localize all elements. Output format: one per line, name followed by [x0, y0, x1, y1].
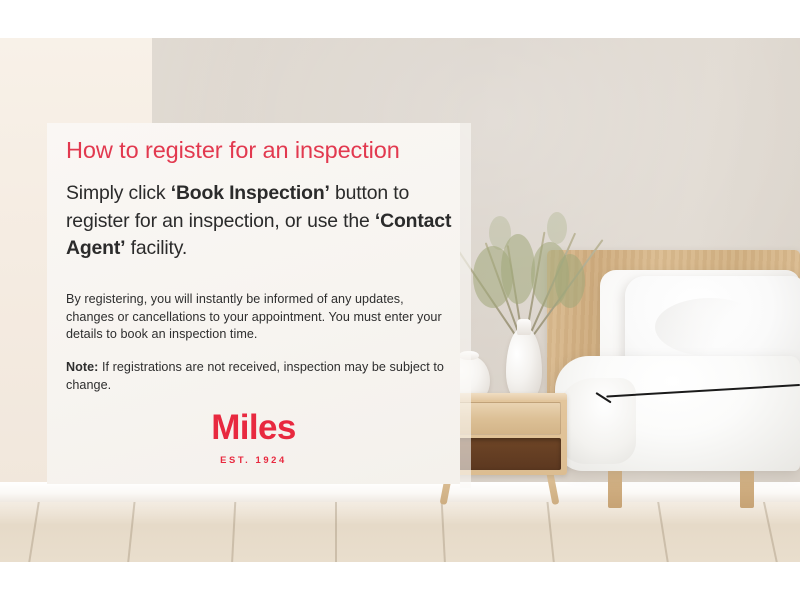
note-paragraph: Note: If registrations are not received,…: [66, 359, 448, 394]
brand-logo: Miles EST. 1924: [47, 410, 460, 465]
body-paragraph: By registering, you will instantly be in…: [66, 291, 448, 344]
baseboard: [0, 482, 800, 502]
branch-foliage: [555, 254, 585, 308]
note-text: If registrations are not received, inspe…: [66, 360, 444, 392]
branch-foliage: [489, 216, 511, 250]
branch-foliage: [547, 212, 567, 244]
duvet-fold: [556, 378, 636, 464]
floor-plank: [335, 500, 337, 562]
lede-pre: Simply click: [66, 182, 171, 204]
book-inspection-emphasis: ‘Book Inspection’: [171, 182, 330, 204]
logo-wordmark: Miles: [47, 410, 460, 445]
lede-paragraph: Simply click ‘Book Inspection’ button to…: [66, 180, 458, 263]
card-translucent-edge: [460, 123, 471, 488]
lede-post: facility.: [125, 237, 187, 259]
screenshot-root: How to register for an inspection Simply…: [0, 0, 800, 600]
logo-established: EST. 1924: [47, 454, 460, 465]
info-card: How to register for an inspection Simply…: [47, 123, 460, 484]
page-title: How to register for an inspection: [66, 137, 400, 164]
tall-vase: [506, 328, 542, 402]
floor-sheen: [0, 500, 800, 562]
wood-floor: [0, 500, 800, 562]
note-label: Note:: [66, 360, 98, 374]
nightstand-leg: [546, 470, 559, 505]
bedroom-photo: How to register for an inspection Simply…: [0, 38, 800, 562]
